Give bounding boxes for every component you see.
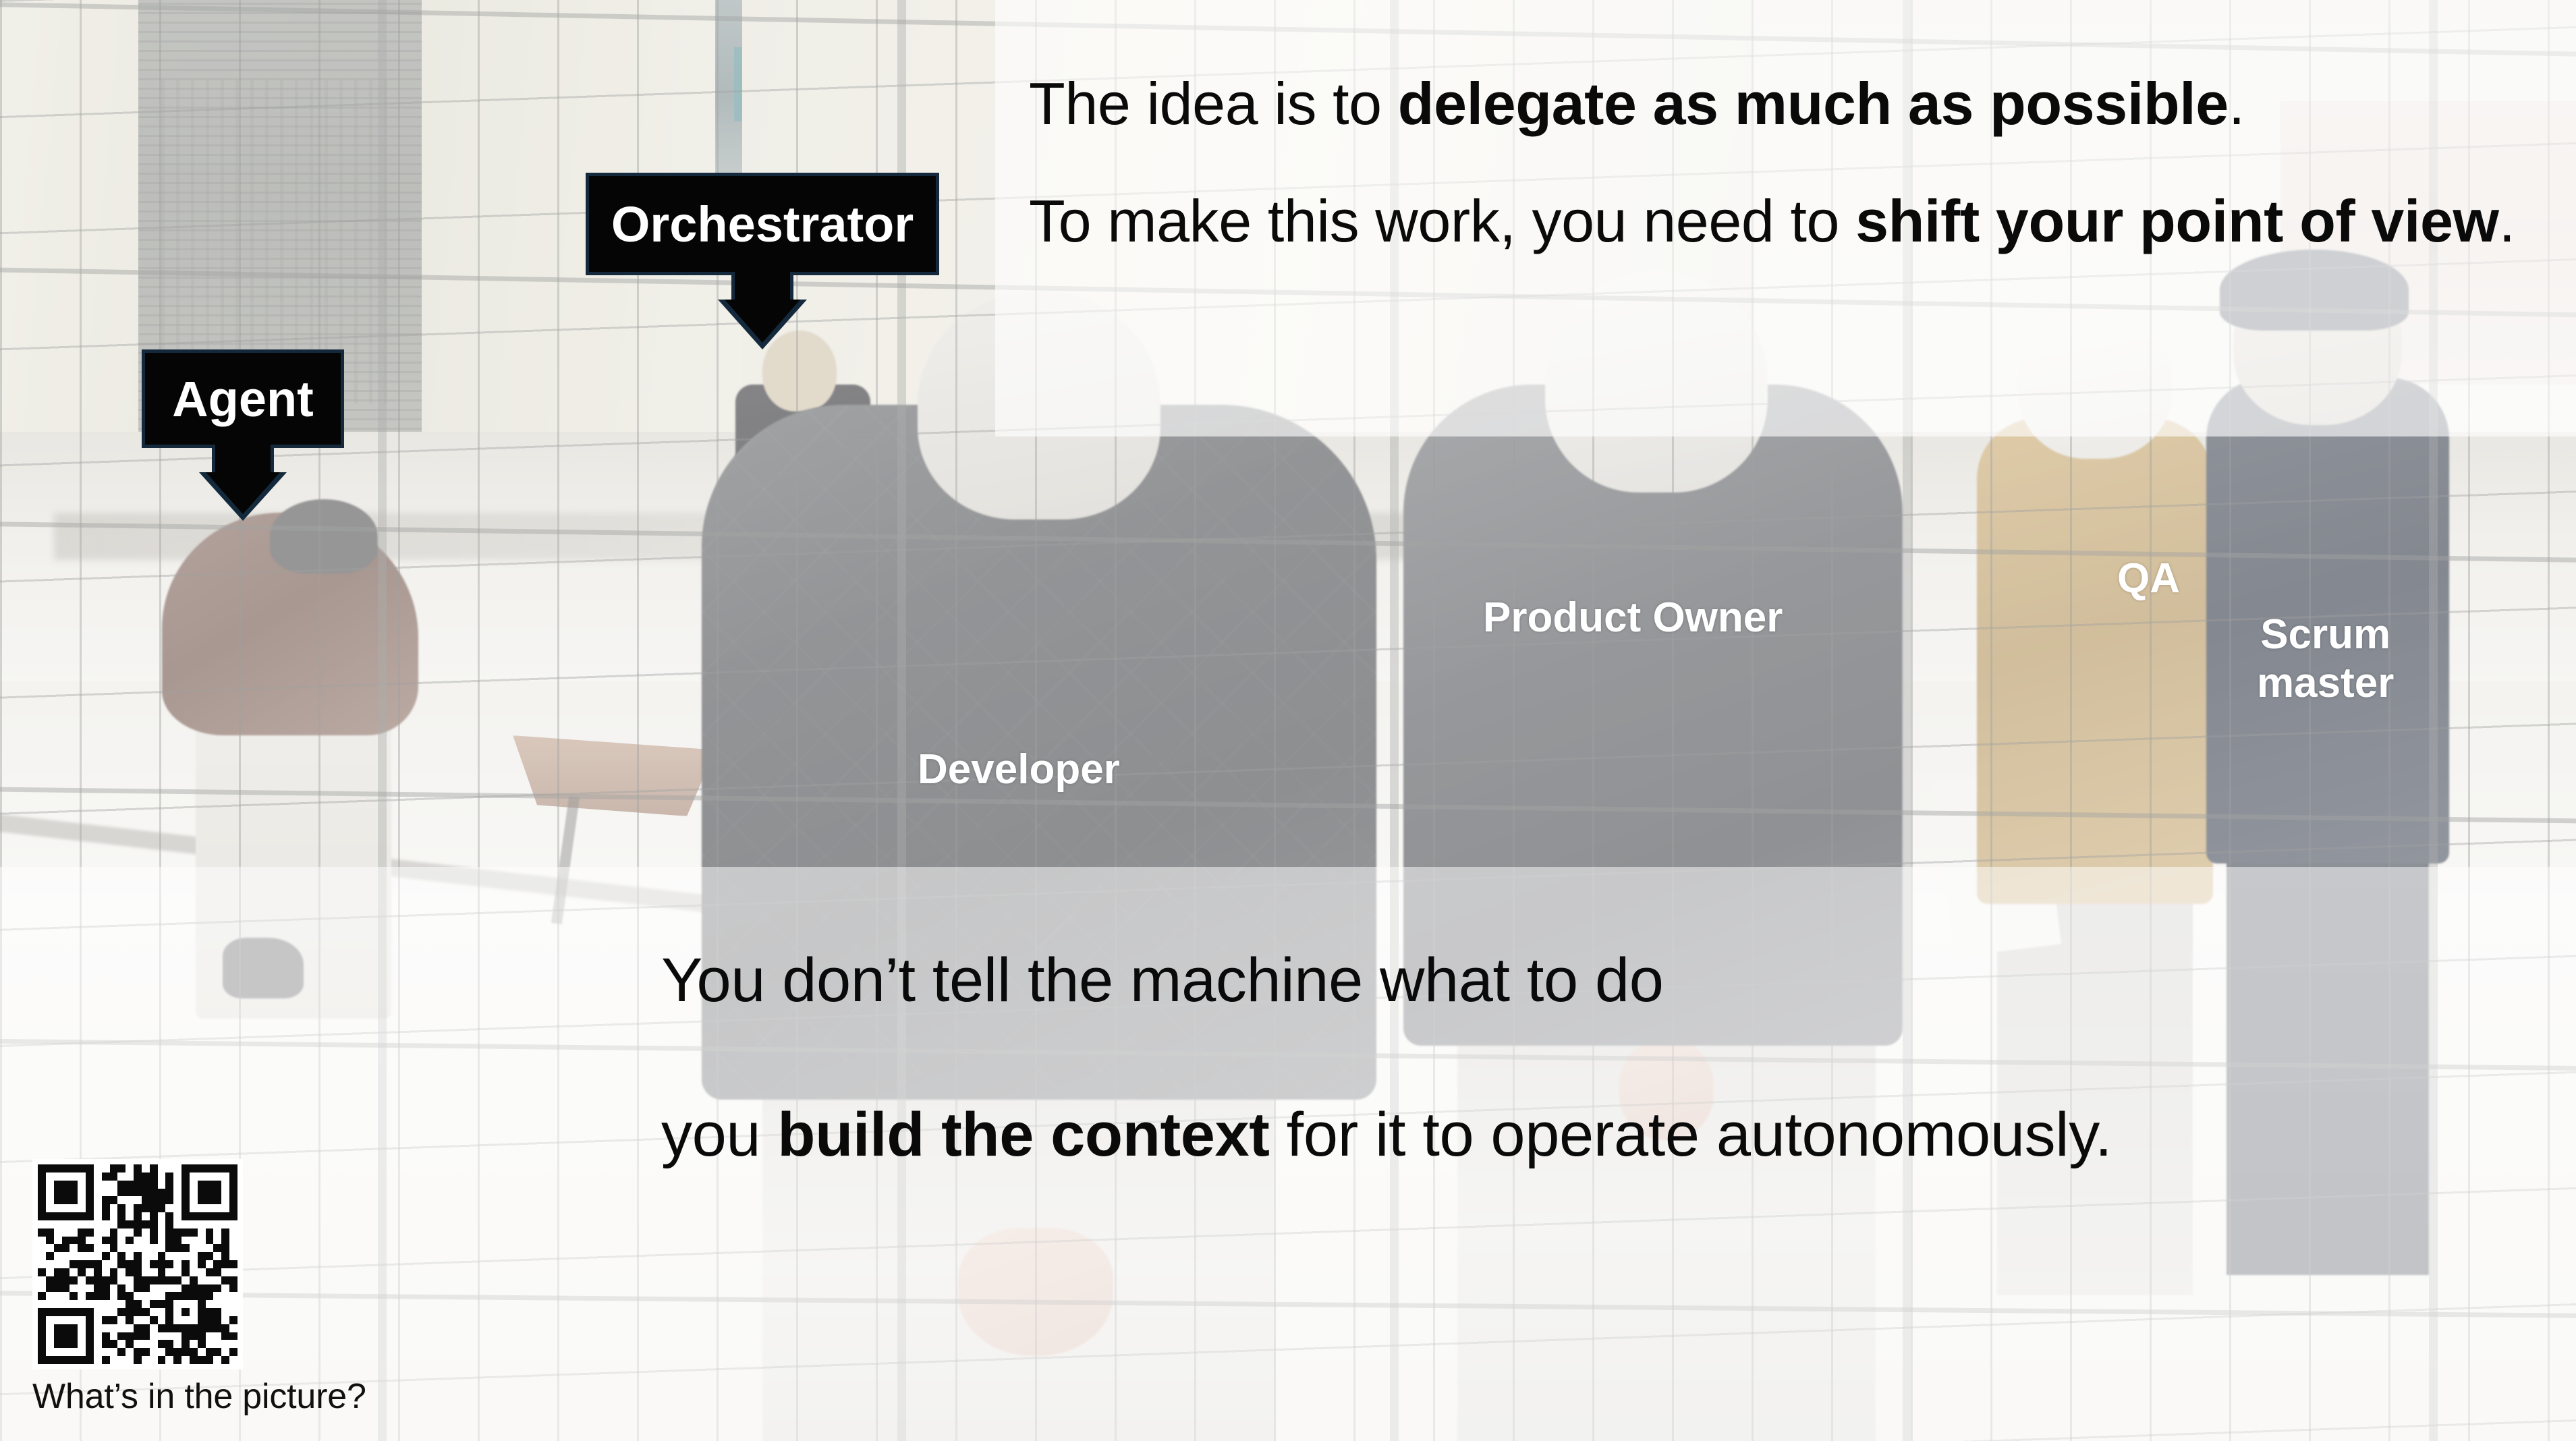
top-text-line2-suffix: . [2499, 188, 2515, 254]
top-text-line1-prefix: The idea is to [1029, 70, 1398, 137]
callout-agent: Agent [142, 349, 344, 448]
bottom-text-line-1: You don’t tell the machine what to do [661, 944, 2415, 1017]
callout-orchestrator-arrow-stem [731, 272, 793, 302]
top-text-block: The idea is to delegate as much as possi… [1029, 70, 2547, 256]
top-text-line-1: The idea is to delegate as much as possi… [1029, 70, 2547, 138]
top-text-line1-bold: delegate as much as possible [1398, 70, 2229, 137]
callout-agent-label: Agent [142, 349, 344, 448]
role-label-product-owner: Product Owner [1483, 594, 1783, 642]
qr-block[interactable]: What’s in the picture? [32, 1159, 366, 1417]
callout-agent-arrow-stem [212, 445, 274, 474]
down-arrow-icon-fill [725, 300, 800, 343]
top-text-line1-suffix: . [2229, 70, 2245, 137]
presentation-slide: The idea is to delegate as much as possi… [0, 0, 2576, 1441]
top-text-line2-bold: shift your point of view [1855, 188, 2499, 254]
bottom-text-line2-suffix: for it to operate autonomously. [1270, 1100, 2112, 1169]
top-text-line-2: To make this work, you need to shift you… [1029, 188, 2547, 255]
role-label-developer: Developer [918, 745, 1120, 794]
top-text-line2-prefix: To make this work, you need to [1029, 188, 1855, 254]
bottom-text-block: You don’t tell the machine what to do yo… [661, 944, 2415, 1170]
bottom-text-line-2: you build the context for it to operate … [661, 1099, 2415, 1171]
photo-person-qa-coat [1977, 418, 2213, 904]
qr-code-icon[interactable] [32, 1159, 243, 1369]
qr-caption: What’s in the picture? [32, 1376, 366, 1417]
down-arrow-icon-fill [206, 472, 280, 514]
bottom-text-line2-prefix: you [661, 1100, 777, 1169]
callout-orchestrator: Orchestrator [586, 173, 939, 275]
role-label-scrum-master: Scrum master [2257, 611, 2394, 708]
bottom-text-line2-bold: build the context [777, 1100, 1269, 1169]
callout-orchestrator-label: Orchestrator [586, 173, 939, 275]
role-label-qa: QA [2117, 555, 2180, 603]
